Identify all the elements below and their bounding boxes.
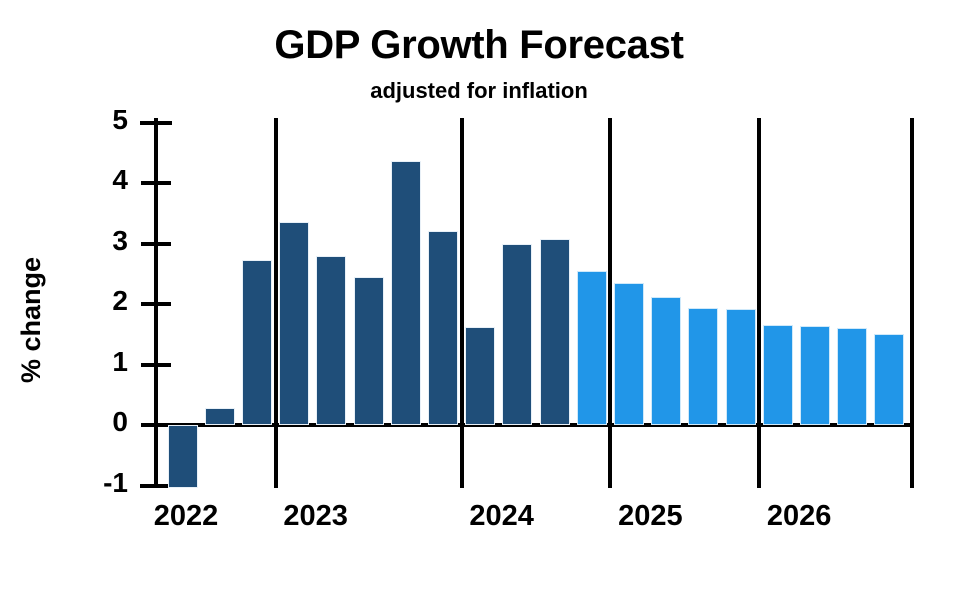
y-axis-tick-label: 4 bbox=[68, 166, 128, 194]
y-axis-tick-label: 3 bbox=[68, 227, 128, 255]
x-axis-label-2022: 2022 bbox=[126, 502, 246, 531]
y-axis-tick-label: 1 bbox=[68, 348, 128, 376]
year-separator-2 bbox=[460, 118, 464, 488]
bar-2026-Q4 bbox=[874, 334, 904, 425]
plot-right-boundary bbox=[910, 118, 914, 488]
y-axis-tick-1 bbox=[141, 363, 171, 367]
bar-2025-Q4 bbox=[726, 309, 756, 425]
chart-title: GDP Growth Forecast bbox=[0, 24, 958, 66]
bar-2025-Q1 bbox=[614, 283, 644, 425]
y-axis-tick-0 bbox=[141, 423, 171, 427]
bar-2026-Q2 bbox=[800, 326, 830, 425]
bar-2024-Q1 bbox=[465, 327, 495, 425]
year-separator-3 bbox=[608, 118, 612, 488]
bar-2022-Q5 bbox=[242, 260, 272, 425]
bar-2026-Q3 bbox=[837, 328, 867, 425]
y-axis-tick-label: 0 bbox=[68, 408, 128, 436]
bar-2024-Q4 bbox=[577, 271, 607, 425]
year-separator-1 bbox=[274, 118, 278, 488]
x-axis-label-2026: 2026 bbox=[739, 502, 859, 531]
bar-2022-Q4 bbox=[205, 408, 235, 425]
x-axis-label-2023: 2023 bbox=[256, 502, 376, 531]
bar-2024-Q3 bbox=[540, 239, 570, 425]
y-axis-label: % change bbox=[16, 190, 60, 450]
bar-2023-Q3 bbox=[354, 277, 384, 425]
y-axis-tick-4 bbox=[141, 181, 171, 185]
y-axis-tick-label: 5 bbox=[68, 106, 128, 134]
bar-2023-Q1 bbox=[279, 222, 309, 425]
y-axis-tick-label: 2 bbox=[68, 287, 128, 315]
gdp-growth-forecast-chart: GDP Growth Forecast adjusted for inflati… bbox=[0, 0, 958, 589]
bar-2023-Q2 bbox=[316, 256, 346, 425]
y-axis-tick-3 bbox=[141, 242, 171, 246]
bar-2025-Q2 bbox=[651, 297, 681, 425]
y-axis-tick-5 bbox=[140, 121, 172, 125]
x-axis-label-2024: 2024 bbox=[442, 502, 562, 531]
bar-2023-Q5 bbox=[428, 231, 458, 425]
bar-2023-Q4 bbox=[391, 161, 421, 425]
x-axis-label-2025: 2025 bbox=[590, 502, 710, 531]
chart-subtitle: adjusted for inflation bbox=[0, 79, 958, 102]
bar-2026-Q1 bbox=[763, 325, 793, 425]
bar-2025-Q3 bbox=[688, 308, 718, 425]
bar-2024-Q2 bbox=[502, 244, 532, 425]
year-separator-4 bbox=[757, 118, 761, 488]
y-axis-tick-2 bbox=[141, 302, 171, 306]
bar-2022-Q3 bbox=[168, 425, 198, 488]
y-axis-tick-label: -1 bbox=[68, 469, 128, 497]
